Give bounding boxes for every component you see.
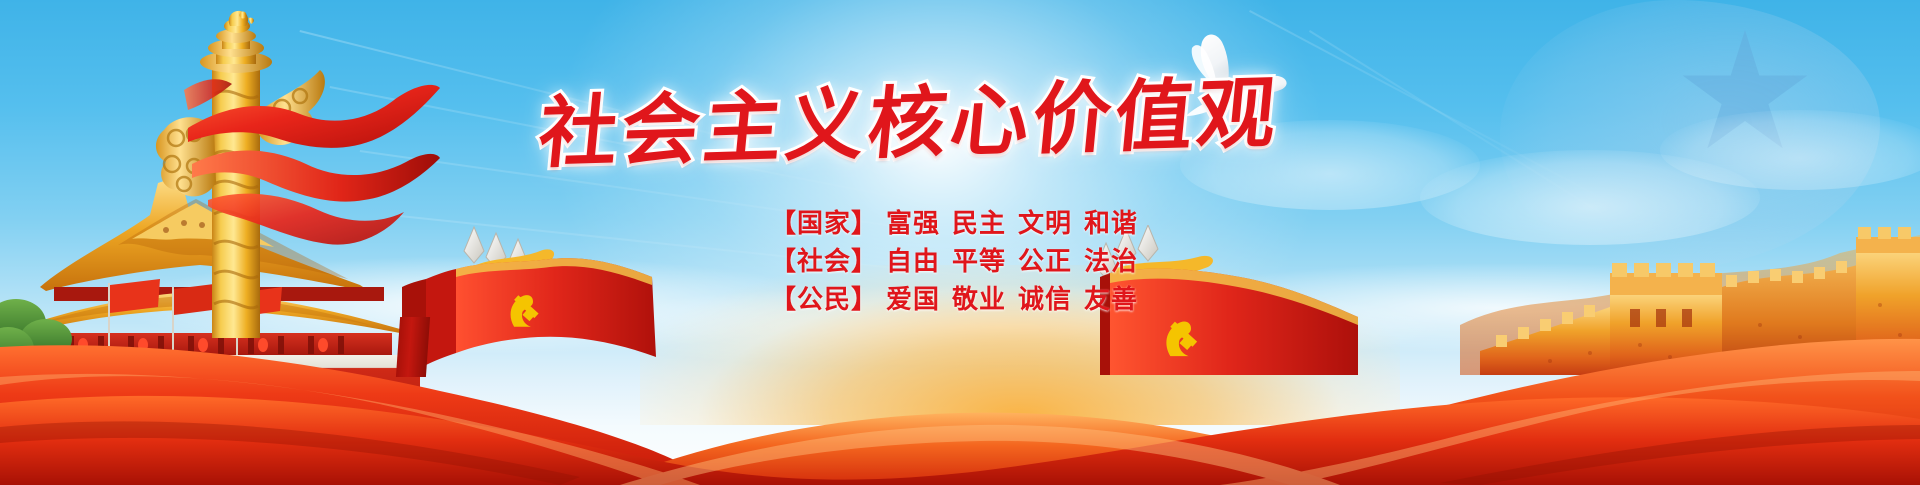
main-title-text: 社会主义核心价值观 [535, 51, 1286, 184]
value-word-fazhi: 法治 [1078, 243, 1144, 281]
five-pointed-star-icon [1680, 30, 1810, 160]
value-word-minzhu: 民主 [946, 205, 1012, 243]
banner-root: 中华人民共和国万岁 [0, 0, 1920, 485]
value-word-ziyou: 自由 [880, 243, 946, 281]
value-word-aiguo: 爱国 [880, 281, 946, 319]
value-word-youshan: 友善 [1078, 281, 1144, 319]
values-row-society: 【社会】 自由 平等 公正 法治 [770, 243, 1144, 281]
values-row-country: 【国家】 富强 民主 文明 和谐 [770, 205, 1144, 243]
values-category-citizen: 【公民】 [770, 281, 880, 319]
value-word-hexie: 和谐 [1078, 205, 1144, 243]
value-word-pingdeng: 平等 [946, 243, 1012, 281]
value-word-gongzheng: 公正 [1012, 243, 1078, 281]
core-values-block: 【国家】 富强 民主 文明 和谐 【社会】 自由 平等 公正 法治 【公民】 爱… [770, 205, 1144, 319]
value-word-chengxin: 诚信 [1012, 281, 1078, 319]
main-title: 社会主义核心价值观 [600, 62, 1220, 172]
value-word-fuqiang: 富强 [880, 205, 946, 243]
huabiao-beast [224, 11, 254, 33]
value-word-wenming: 文明 [1012, 205, 1078, 243]
values-row-citizen: 【公民】 爱国 敬业 诚信 友善 [770, 281, 1144, 319]
values-category-country: 【国家】 [770, 205, 880, 243]
value-word-jingye: 敬业 [946, 281, 1012, 319]
values-category-society: 【社会】 [770, 243, 880, 281]
